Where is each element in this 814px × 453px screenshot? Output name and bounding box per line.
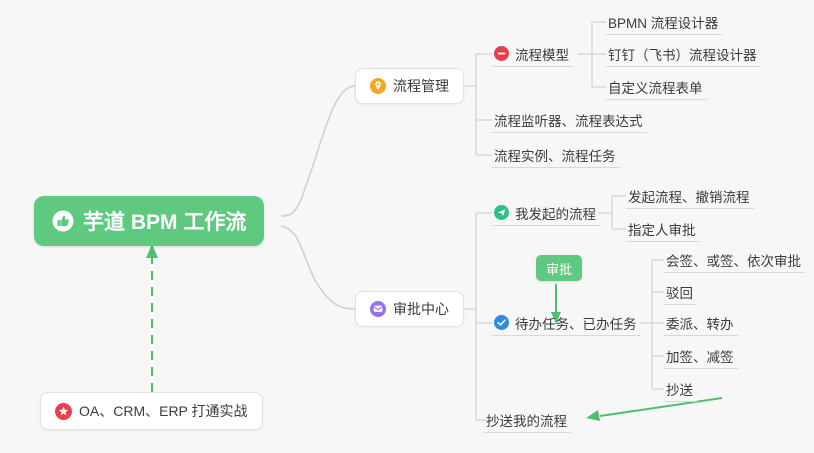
leaf-label: 流程监听器、流程表达式 xyxy=(494,110,643,130)
leaf-label: 钉钉（飞书）流程设计器 xyxy=(608,44,757,64)
branch-node-approval-center[interactable]: 审批中心 xyxy=(355,291,464,327)
star-circle-icon xyxy=(55,403,72,420)
leaf-label: 待办任务、已办任务 xyxy=(515,313,637,333)
leaf-dingtalk-feishu-designer[interactable]: 钉钉（飞书）流程设计器 xyxy=(606,41,761,67)
root-node[interactable]: 芋道 BPM 工作流 xyxy=(34,196,264,246)
leaf-label: 流程实例、流程任务 xyxy=(494,145,616,165)
leaf-label: 我发起的流程 xyxy=(515,203,596,223)
leaf-delegate-transfer[interactable]: 委派、转办 xyxy=(664,310,738,336)
leaf-label: 自定义流程表单 xyxy=(608,77,703,97)
leaf-assigned-approval[interactable]: 指定人审批 xyxy=(626,216,700,242)
bottom-card-label: OA、CRM、ERP 打通实战 xyxy=(79,401,248,421)
leaf-listener-expression[interactable]: 流程监听器、流程表达式 xyxy=(492,107,647,133)
branch-node-process-management[interactable]: 流程管理 xyxy=(355,68,464,104)
leaf-label: 委派、转办 xyxy=(666,313,734,333)
leaf-instance-task[interactable]: 流程实例、流程任务 xyxy=(492,142,620,168)
root-label: 芋道 BPM 工作流 xyxy=(83,206,246,236)
leaf-cc-to-me[interactable]: 抄送我的流程 xyxy=(484,407,571,433)
leaf-my-started-processes[interactable]: 我发起的流程 xyxy=(492,200,600,226)
leaf-add-remove-sign[interactable]: 加签、减签 xyxy=(664,343,738,369)
minus-circle-icon xyxy=(494,46,509,61)
mindmap-canvas: 芋道 BPM 工作流 流程管理 流程模型 BPMN 流程设计器 钉钉（飞书）流程… xyxy=(0,0,814,453)
message-icon xyxy=(370,301,386,317)
branch-label: 流程管理 xyxy=(393,76,449,96)
location-pin-icon xyxy=(370,78,386,94)
send-circle-icon xyxy=(494,205,509,220)
leaf-cc[interactable]: 抄送 xyxy=(664,376,697,402)
leaf-label: 发起流程、撤销流程 xyxy=(628,186,750,206)
leaf-label: 流程模型 xyxy=(515,44,569,64)
leaf-label: 加签、减签 xyxy=(666,346,734,366)
branch-label: 审批中心 xyxy=(393,299,449,319)
leaf-label: 抄送 xyxy=(666,379,693,399)
thumbs-up-icon xyxy=(52,210,74,232)
highlight-tag-approval[interactable]: 审批 xyxy=(536,255,582,281)
leaf-label: 会签、或签、依次审批 xyxy=(666,250,801,270)
leaf-countersign-types[interactable]: 会签、或签、依次审批 xyxy=(664,247,805,273)
leaf-reject[interactable]: 驳回 xyxy=(664,279,697,305)
leaf-custom-process-form[interactable]: 自定义流程表单 xyxy=(606,74,707,100)
leaf-process-model[interactable]: 流程模型 xyxy=(492,41,573,67)
leaf-label: 抄送我的流程 xyxy=(486,410,567,430)
leaf-todo-done-tasks[interactable]: 待办任务、已办任务 xyxy=(492,310,641,336)
leaf-start-cancel-process[interactable]: 发起流程、撤销流程 xyxy=(626,183,754,209)
leaf-label: BPMN 流程设计器 xyxy=(608,12,718,32)
bottom-card-integration[interactable]: OA、CRM、ERP 打通实战 xyxy=(40,392,263,430)
check-circle-icon xyxy=(494,315,509,330)
leaf-label: 驳回 xyxy=(666,282,693,302)
leaf-bpmn-designer[interactable]: BPMN 流程设计器 xyxy=(606,9,722,35)
leaf-label: 指定人审批 xyxy=(628,219,696,239)
highlight-tag-label: 审批 xyxy=(546,259,572,278)
